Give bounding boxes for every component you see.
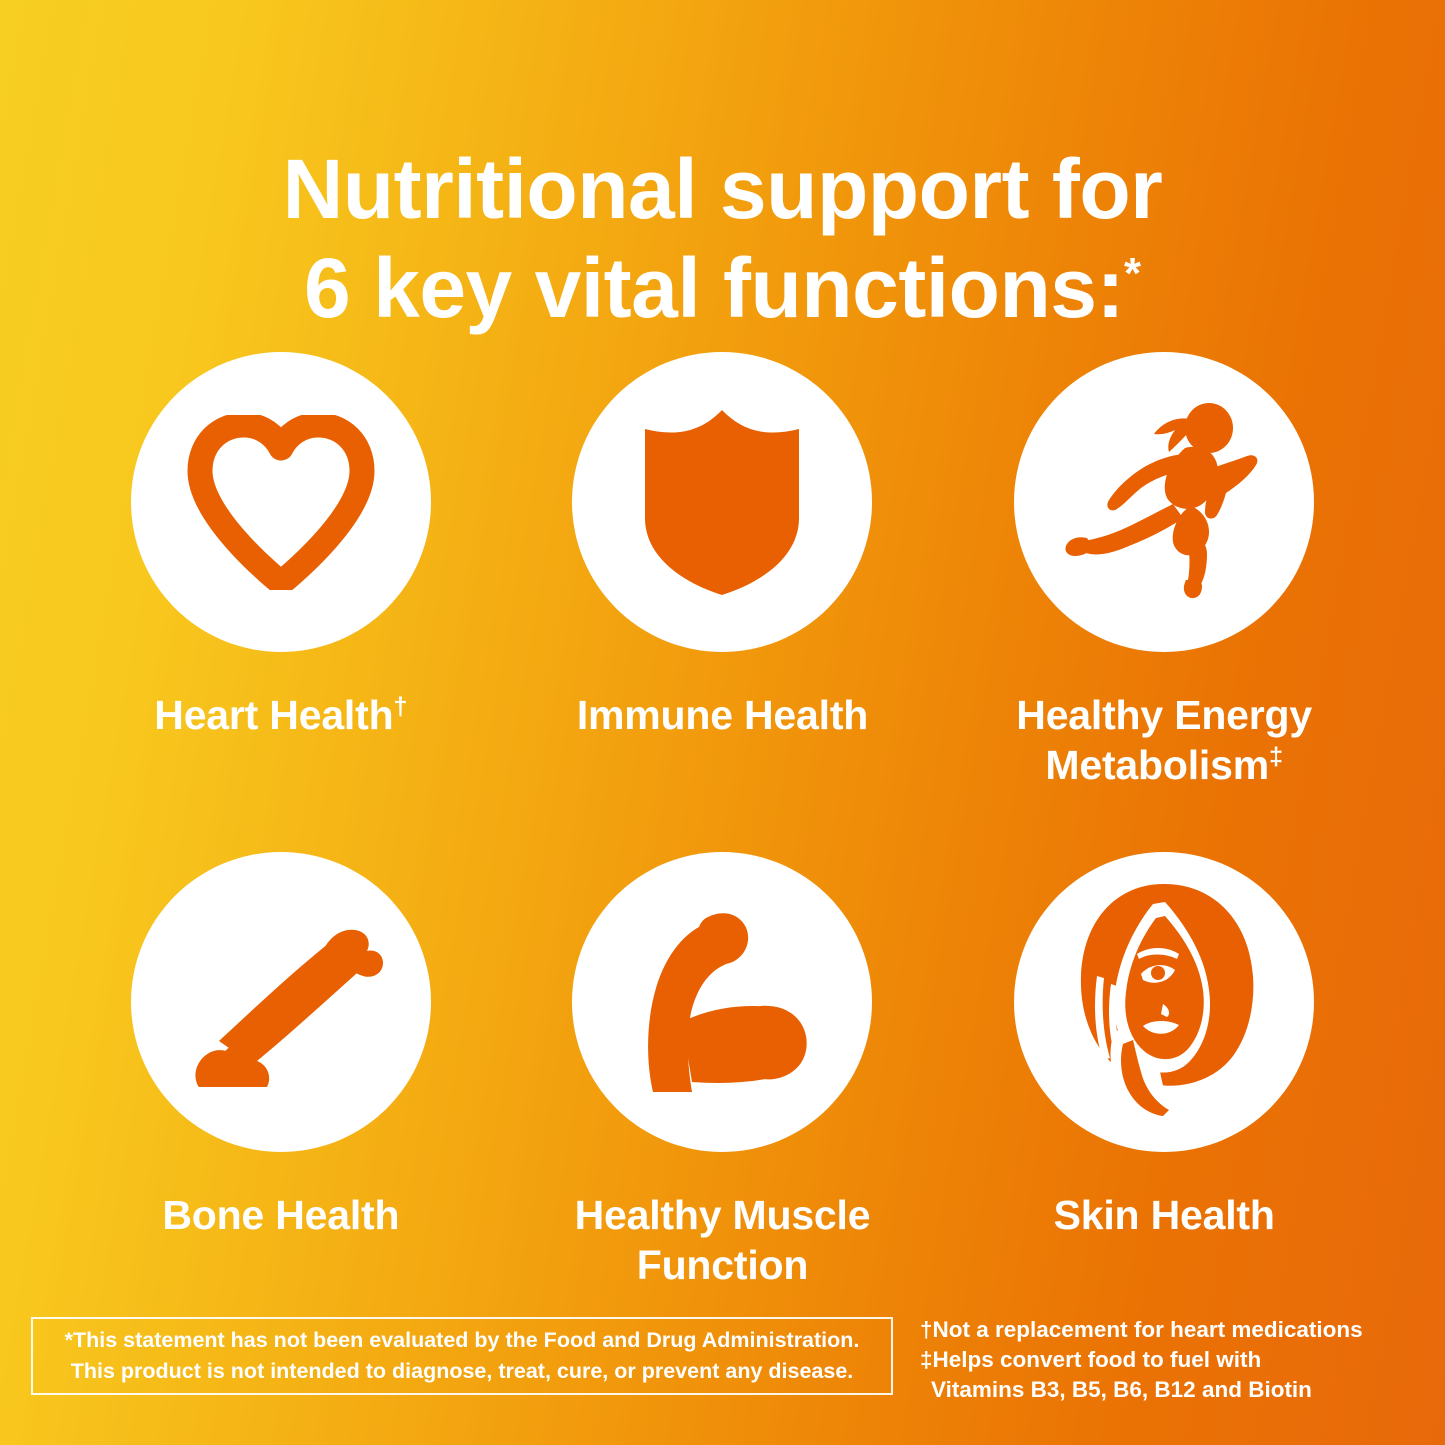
icon-disc bbox=[131, 852, 431, 1152]
footnotes: †Not a replacement for heart medications… bbox=[920, 1315, 1440, 1405]
fda-disclaimer-line-1: *This statement has not been evaluated b… bbox=[65, 1325, 860, 1356]
infographic-poster: Nutritional support for 6 key vital func… bbox=[0, 0, 1445, 1445]
benefit-item-healthy-energy-metabolism: Healthy Energy Metabolism‡ bbox=[943, 352, 1385, 790]
benefit-item-bone-health: Bone Health bbox=[60, 852, 502, 1290]
benefits-grid: Heart Health† Immune Health bbox=[60, 352, 1385, 1290]
double-dagger-superscript: ‡ bbox=[1269, 742, 1283, 770]
benefit-item-skin-health: Skin Health bbox=[943, 852, 1385, 1290]
benefit-item-heart-health: Heart Health† bbox=[60, 352, 502, 790]
benefit-label: Healthy Energy Metabolism‡ bbox=[999, 690, 1329, 790]
benefit-item-immune-health: Immune Health bbox=[502, 352, 944, 790]
fda-disclaimer-line-2: This product is not intended to diagnose… bbox=[71, 1356, 854, 1387]
icon-disc bbox=[1014, 352, 1314, 652]
running-person-icon bbox=[1057, 402, 1272, 602]
page-title-line-2-text: 6 key vital functions: bbox=[304, 241, 1124, 335]
footnote-double-dagger-line-2: Vitamins B3, B5, B6, B12 and Biotin bbox=[920, 1375, 1440, 1405]
dagger-superscript: † bbox=[393, 692, 407, 720]
benefit-label: Skin Health bbox=[1054, 1190, 1275, 1240]
benefit-label: Healthy Muscle Function bbox=[557, 1190, 887, 1290]
icon-disc bbox=[1014, 852, 1314, 1152]
footnote-dagger: †Not a replacement for heart medications bbox=[920, 1315, 1440, 1345]
icon-disc bbox=[131, 352, 431, 652]
bone-icon bbox=[171, 917, 391, 1087]
icon-disc bbox=[572, 852, 872, 1152]
face-skin-icon bbox=[1057, 880, 1272, 1125]
heart-icon bbox=[186, 415, 376, 590]
benefit-label-text: Healthy Muscle Function bbox=[575, 1192, 871, 1288]
benefit-label-text: Immune Health bbox=[577, 692, 868, 738]
fda-disclaimer-box: *This statement has not been evaluated b… bbox=[31, 1317, 893, 1395]
page-title: Nutritional support for 6 key vital func… bbox=[0, 140, 1445, 338]
benefit-label-text: Healthy Energy Metabolism bbox=[1016, 692, 1312, 788]
benefit-label-text: Bone Health bbox=[162, 1192, 399, 1238]
shield-icon bbox=[637, 406, 807, 598]
benefit-label: Heart Health† bbox=[154, 690, 407, 740]
page-title-line-1: Nutritional support for bbox=[110, 140, 1335, 239]
benefit-item-healthy-muscle-function: Healthy Muscle Function bbox=[502, 852, 944, 1290]
page-title-line-2: 6 key vital functions:* bbox=[110, 239, 1335, 338]
asterisk-superscript: * bbox=[1124, 249, 1141, 298]
benefit-label-text: Skin Health bbox=[1054, 1192, 1275, 1238]
icon-disc bbox=[572, 352, 872, 652]
benefit-label: Immune Health bbox=[577, 690, 868, 740]
footer: *This statement has not been evaluated b… bbox=[0, 1305, 1445, 1445]
footnote-double-dagger-line-1: ‡Helps convert food to fuel with bbox=[920, 1345, 1440, 1375]
benefit-label: Bone Health bbox=[162, 1190, 399, 1240]
benefit-label-text: Heart Health bbox=[154, 692, 393, 738]
flexed-bicep-icon bbox=[620, 902, 825, 1102]
